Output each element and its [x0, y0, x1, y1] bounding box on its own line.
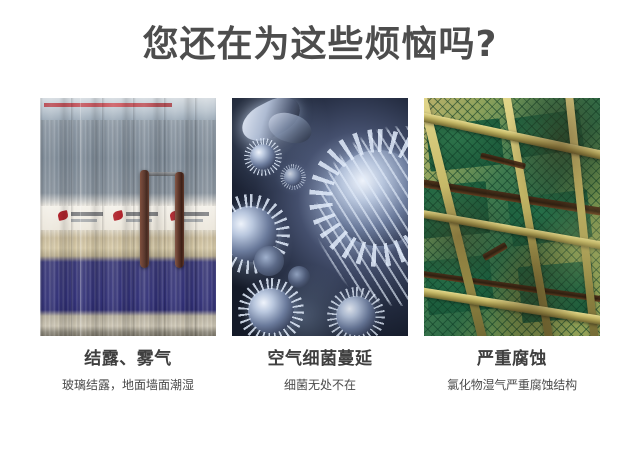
caption-subtitle: 细菌无处不在 [232, 377, 408, 394]
caption-condensation: 结露、雾气 玻璃结露，地面墙面潮湿 [40, 348, 216, 394]
virus-spike-texture [316, 126, 408, 306]
caption-title: 结露、雾气 [40, 348, 216, 370]
image-panel-bacteria [232, 98, 408, 336]
corrosion-grime-overlay [424, 98, 600, 336]
virus-particle-icon [248, 288, 294, 334]
caption-title: 空气细菌蔓延 [232, 348, 408, 370]
image-panel-condensation [40, 98, 216, 336]
caption-bacteria: 空气细菌蔓延 细菌无处不在 [232, 348, 408, 394]
promo-page: 您还在为这些烦恼吗? [0, 0, 640, 471]
virus-particle-icon [254, 246, 284, 276]
virus-particle-icon [250, 144, 276, 170]
caption-title: 严重腐蚀 [424, 348, 600, 370]
image-panel-row [40, 98, 600, 336]
image-panel-corrosion [424, 98, 600, 336]
virus-particle-icon [284, 168, 302, 186]
caption-subtitle: 氯化物湿气严重腐蚀结构 [424, 377, 600, 394]
caption-corrosion: 严重腐蚀 氯化物湿气严重腐蚀结构 [424, 348, 600, 394]
page-title: 您还在为这些烦恼吗? [0, 22, 640, 68]
caption-row: 结露、雾气 玻璃结露，地面墙面潮湿 空气细菌蔓延 细菌无处不在 严重腐蚀 氯化物… [40, 348, 600, 394]
water-droplet-overlay [40, 98, 216, 336]
caption-subtitle: 玻璃结露，地面墙面潮湿 [40, 377, 216, 394]
